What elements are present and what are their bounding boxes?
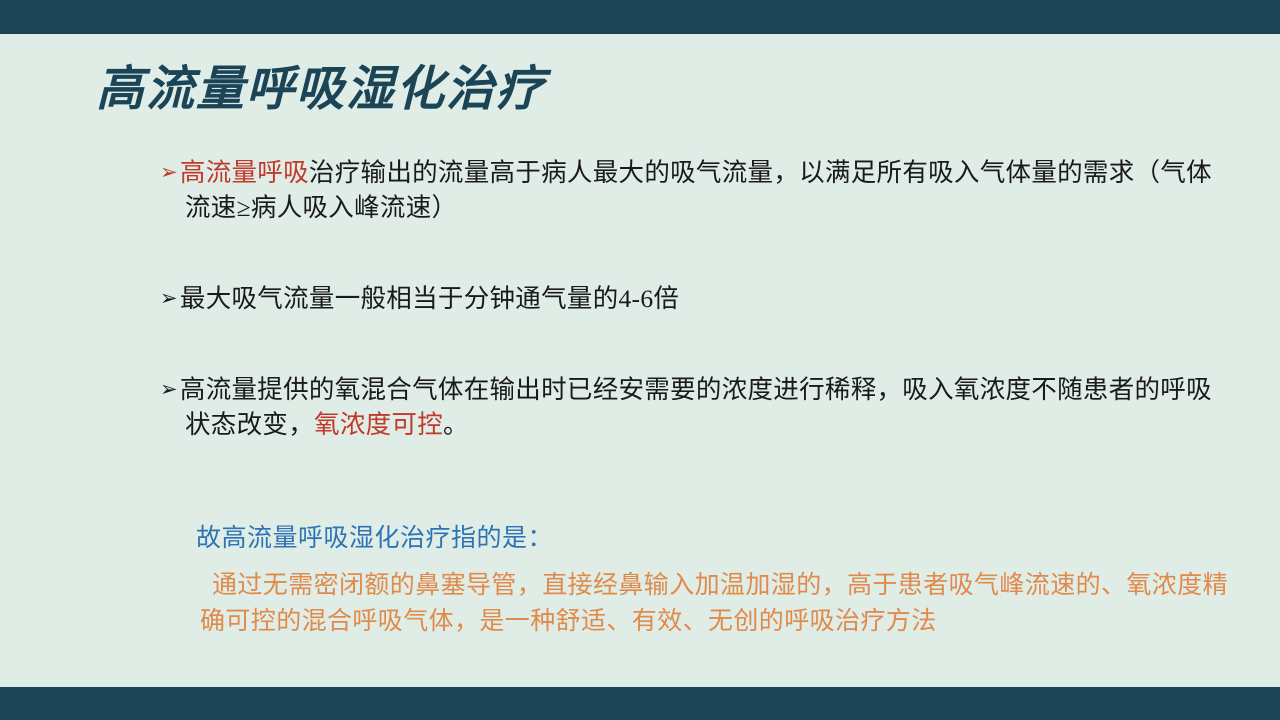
bullet-2-text: 最大吸气流量一般相当于分钟通气量的4-6倍 [180, 284, 679, 313]
bullet-3-highlight: 氧浓度可控 [314, 410, 443, 439]
page-title: 高流量呼吸湿化治疗 [96, 62, 546, 117]
slide-body: ➢高流量呼吸治疗输出的流量高于病人最大的吸气流量，以满足所有吸入气体量的需求（气… [0, 155, 1280, 467]
bullet-3-tail: 。 [443, 410, 469, 439]
top-accent-bar [0, 0, 1280, 34]
arrow-bullet-icon: ➢ [160, 377, 178, 401]
conclusion-body: 通过无需密闭额的鼻塞导管，直接经鼻输入加温加湿的，高于患者吸气峰流速的、氧浓度精… [200, 568, 1235, 641]
arrow-bullet-icon: ➢ [160, 160, 178, 184]
bullet-1-text: 治疗输出的流量高于病人最大的吸气流量，以满足所有吸入气体量的需求（气体流速≥病人… [185, 158, 1212, 222]
slide: 高流量呼吸湿化治疗 ➢高流量呼吸治疗输出的流量高于病人最大的吸气流量，以满足所有… [0, 0, 1280, 720]
arrow-bullet-icon: ➢ [160, 286, 178, 310]
bullet-1-highlight: 高流量呼吸 [180, 158, 309, 187]
bullet-item-1: ➢高流量呼吸治疗输出的流量高于病人最大的吸气流量，以满足所有吸入气体量的需求（气… [0, 155, 1280, 225]
bottom-accent-bar [0, 687, 1280, 720]
bullet-item-3: ➢高流量提供的氧混合气体在输出时已经安需要的浓度进行稀释，吸入氧浓度不随患者的呼… [0, 372, 1280, 442]
conclusion-lead: 故高流量呼吸湿化治疗指的是： [196, 518, 553, 554]
bullet-item-2: ➢最大吸气流量一般相当于分钟通气量的4-6倍 [0, 281, 1280, 316]
